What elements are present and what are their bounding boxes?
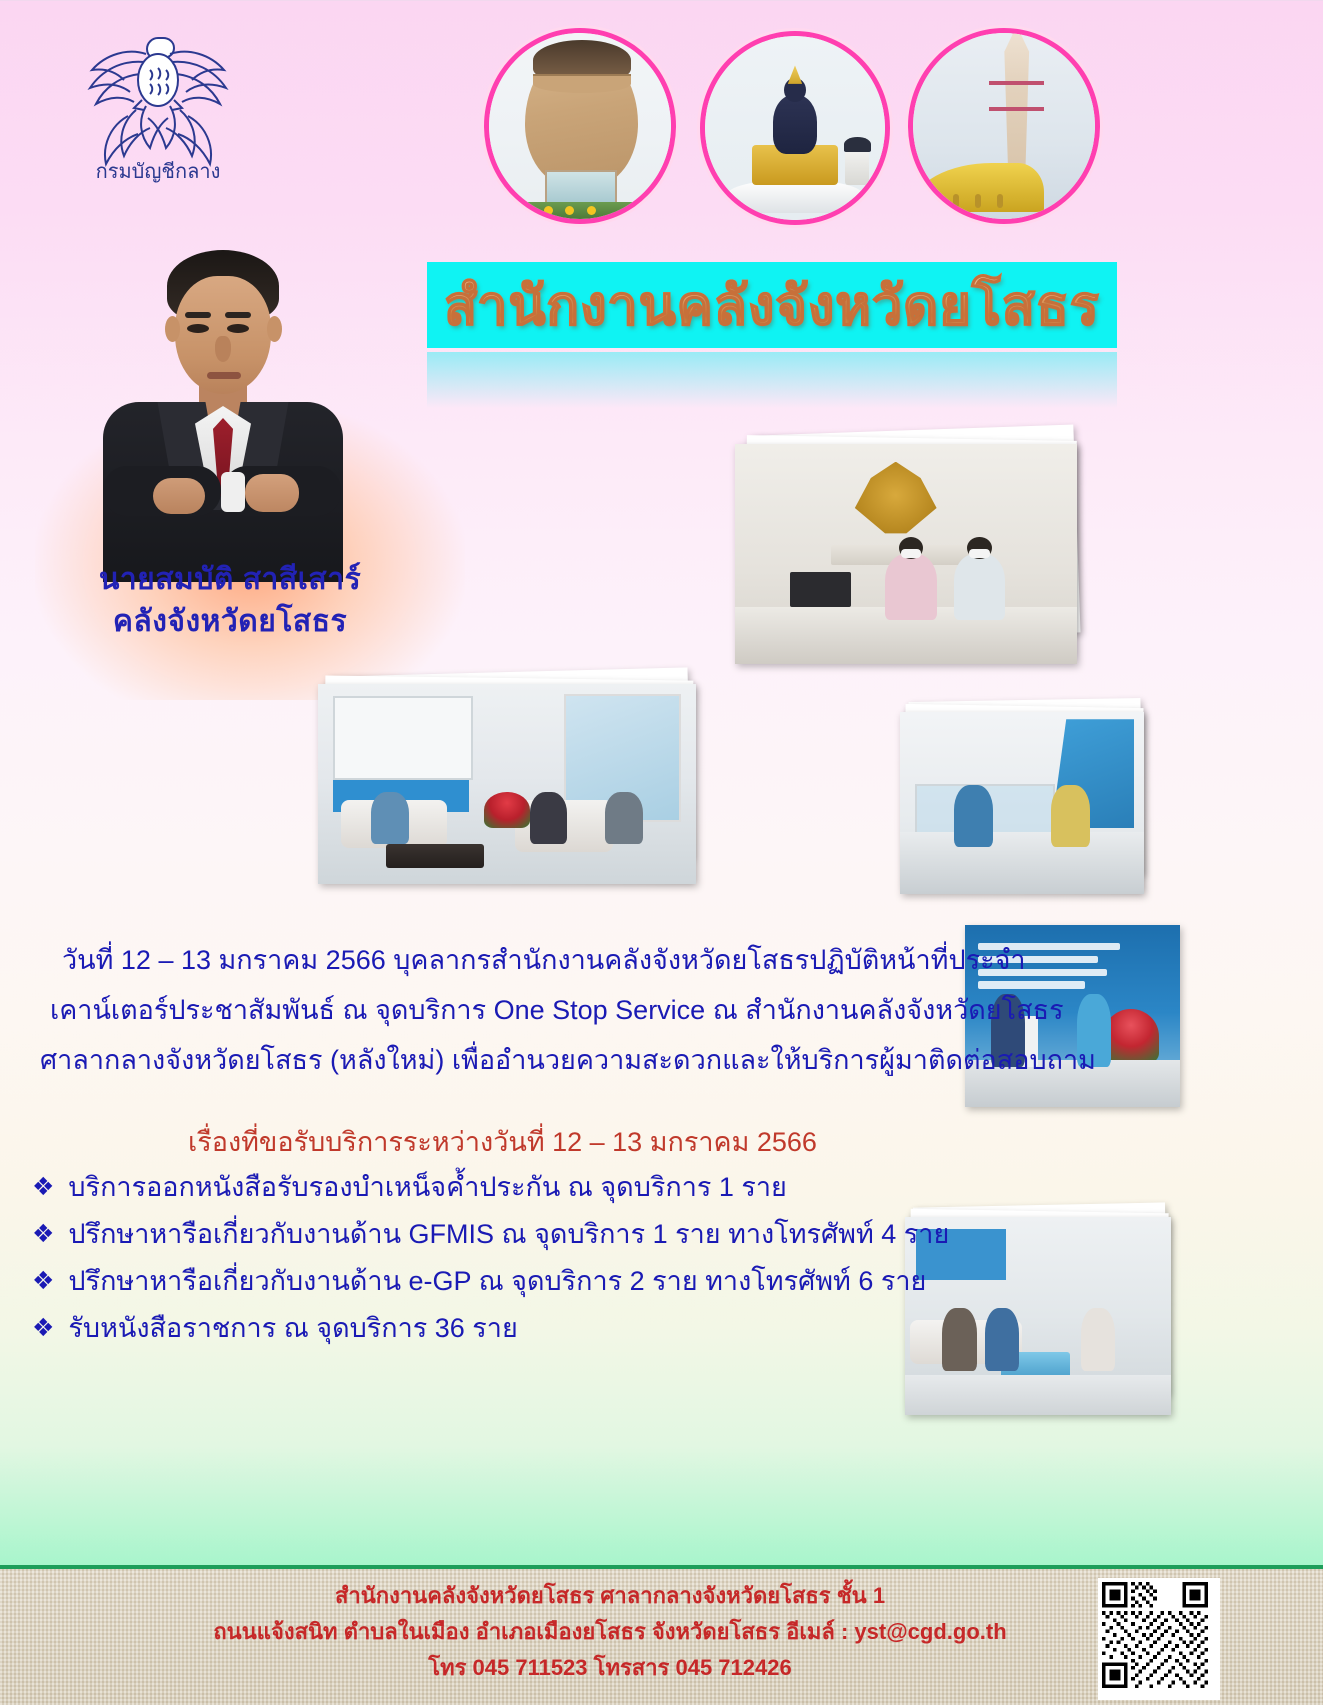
service-item-label: ปรึกษาหารือเกี่ยวกับงานด้าน GFMIS ณ จุดบ…: [68, 1217, 949, 1251]
list-item: ❖ ปรึกษาหารือเกี่ยวกับงานด้าน e-GP ณ จุด…: [32, 1264, 932, 1298]
diamond-bullet-icon: ❖: [32, 1217, 54, 1251]
toad-museum-photo: [484, 28, 676, 224]
page-title: สำนักงานคลังจังหวัดยโสธร: [444, 262, 1100, 348]
lobby-service-photo: [318, 672, 718, 892]
services-list: ❖ บริการออกหนังสือรับรองบำเหน็จค้ำประกัน…: [32, 1170, 932, 1358]
phra-that-anon-photo: [908, 28, 1100, 224]
footer-line-3: โทร 045 711523 โทรสาร 045 712426: [160, 1650, 1060, 1686]
page-title-banner: สำนักงานคลังจังหวัดยโสธร: [427, 262, 1117, 348]
services-heading: เรื่องที่ขอรับบริการระหว่างวันที่ 12 – 1…: [188, 1120, 988, 1163]
officer-position: คลังจังหวัดยโสธร: [0, 598, 460, 645]
garuda-emblem-logo: กรมบัญชีกลาง: [58, 18, 258, 188]
page-title-reflection: สำนักงานคลังจังหวัดยโสธร: [427, 352, 1117, 408]
list-item: ❖ บริการออกหนังสือรับรองบำเหน็จค้ำประกัน…: [32, 1170, 932, 1204]
announcement-body: วันที่ 12 – 13 มกราคม 2566 บุคลากรสำนักง…: [40, 935, 975, 1085]
footer-line-2: ถนนแจ้งสนิท ตำบลในเมือง อำเภอเมืองยโสธร …: [160, 1614, 1060, 1650]
list-item: ❖ ปรึกษาหารือเกี่ยวกับงานด้าน GFMIS ณ จุ…: [32, 1217, 932, 1251]
service-item-label: บริการออกหนังสือรับรองบำเหน็จค้ำประกัน ณ…: [68, 1170, 786, 1204]
diamond-bullet-icon: ❖: [32, 1311, 54, 1345]
footer-contact: สำนักงานคลังจังหวัดยโสธร ศาลากลางจังหวัด…: [160, 1578, 1060, 1686]
front-counter-photo: [735, 430, 1105, 670]
service-window-photo: [900, 700, 1160, 900]
diamond-bullet-icon: ❖: [32, 1264, 54, 1298]
logo-caption: กรมบัญชีกลาง: [96, 159, 221, 183]
footer-line-1: สำนักงานคลังจังหวัดยโสธร ศาลากลางจังหวัด…: [160, 1578, 1060, 1614]
announcement-line-3: ศาลากลางจังหวัดยโสธร (หลังใหม่) เพื่ออำน…: [40, 1035, 975, 1085]
service-item-label: รับหนังสือราชการ ณ จุดบริการ 36 ราย: [68, 1311, 517, 1345]
diamond-bullet-icon: ❖: [32, 1170, 54, 1204]
officer-name: นายสมบัติ สาสีเสาร์: [0, 556, 460, 603]
provincial-treasurer-portrait: [95, 250, 350, 580]
announcement-line-2: เคาน์เตอร์ประชาสัมพันธ์ ณ จุดบริการ One …: [40, 985, 975, 1035]
announcement-line-1: วันที่ 12 – 13 มกราคม 2566 บุคลากรสำนักง…: [40, 935, 975, 985]
list-item: ❖ รับหนังสือราชการ ณ จุดบริการ 36 ราย: [32, 1311, 932, 1345]
phaya-thaen-statue-photo: [700, 31, 890, 225]
service-item-label: ปรึกษาหารือเกี่ยวกับงานด้าน e-GP ณ จุดบร…: [68, 1264, 926, 1298]
qr-code[interactable]: [1098, 1578, 1220, 1700]
